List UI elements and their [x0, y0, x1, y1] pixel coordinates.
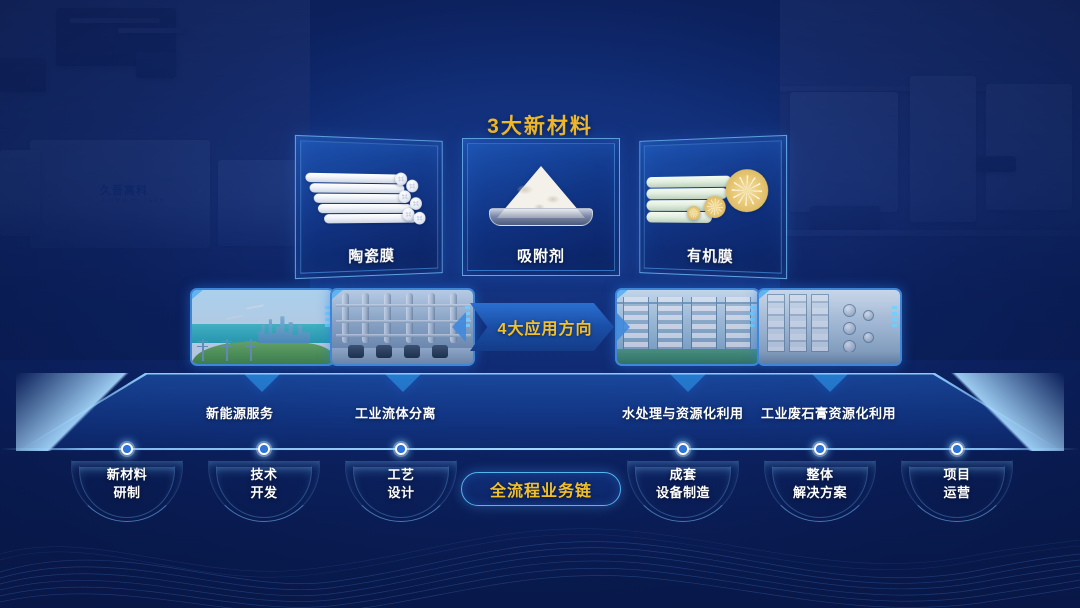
- application-label-fluid-separation: 工业流体分离: [355, 403, 436, 422]
- chain-node-dot: [119, 441, 135, 457]
- infographic-stage: 久吾高科 JIUWU HI-TECH 3大新材料: [0, 0, 1080, 608]
- chain-node-dot: [675, 441, 691, 457]
- chain-item-line1: 工艺: [336, 466, 466, 484]
- applications-banner: 4大应用方向: [470, 303, 614, 351]
- panel-tick-marks: [750, 306, 755, 330]
- page-title: 3大新材料: [0, 110, 1080, 140]
- chain-node-dot: [393, 441, 409, 457]
- platform-right-edge: [924, 373, 1064, 451]
- platform-left-edge: [16, 373, 156, 451]
- chain-item-line1: 成套: [618, 466, 748, 484]
- chain-item-process-design[interactable]: 工艺 设计: [336, 466, 466, 502]
- application-panel-gypsum-recycling[interactable]: [757, 288, 902, 366]
- banner-wing-left-icon: [452, 312, 466, 342]
- application-label-water-treatment: 水处理与资源化利用: [622, 403, 744, 422]
- material-card-adsorbent[interactable]: 吸附剂: [462, 138, 620, 276]
- chain-item-project-operation[interactable]: 项目 运营: [892, 466, 1022, 502]
- application-label-new-energy: 新能源服务: [206, 403, 274, 422]
- chain-baseline: [0, 448, 1080, 450]
- chain-item-total-solution[interactable]: 整体 解决方案: [755, 466, 885, 502]
- ceramic-membrane-art: [303, 150, 435, 235]
- perspective-platform: [0, 373, 1080, 451]
- chain-item-tech-dev[interactable]: 技术 开发: [199, 466, 329, 502]
- application-panel-new-energy[interactable]: [190, 288, 335, 366]
- platform-face: [0, 373, 1080, 451]
- material-card-ceramic[interactable]: 陶瓷膜: [295, 135, 443, 279]
- material-card-organic[interactable]: 有机膜: [639, 135, 787, 279]
- chain-node-dot: [949, 441, 965, 457]
- chain-item-equipment-manufacture[interactable]: 成套 设备制造: [618, 466, 748, 502]
- panel-tick-marks: [892, 306, 897, 330]
- chain-item-line1: 新材料: [62, 466, 192, 484]
- chain-item-line1: 技术: [199, 466, 329, 484]
- bottom-wave-decoration: [0, 498, 1080, 608]
- chain-node-dot: [812, 441, 828, 457]
- applications-banner-label: 4大应用方向: [498, 315, 593, 339]
- chain-item-line1: 项目: [892, 466, 1022, 484]
- chain-item-line1: 整体: [755, 466, 885, 484]
- materials-card-group: 陶瓷膜 吸附剂 有机膜: [296, 138, 786, 278]
- chain-node-dot: [256, 441, 272, 457]
- chain-item-material-rd[interactable]: 新材料 研制: [62, 466, 192, 502]
- application-label-gypsum-recycling: 工业废石膏资源化利用: [761, 403, 896, 422]
- application-panel-water-treatment[interactable]: [615, 288, 760, 366]
- material-card-label: 吸附剂: [462, 245, 620, 266]
- adsorbent-powder-art: [470, 152, 612, 234]
- banner-wing-right-icon: [616, 312, 630, 342]
- organic-membrane-art: [647, 150, 779, 235]
